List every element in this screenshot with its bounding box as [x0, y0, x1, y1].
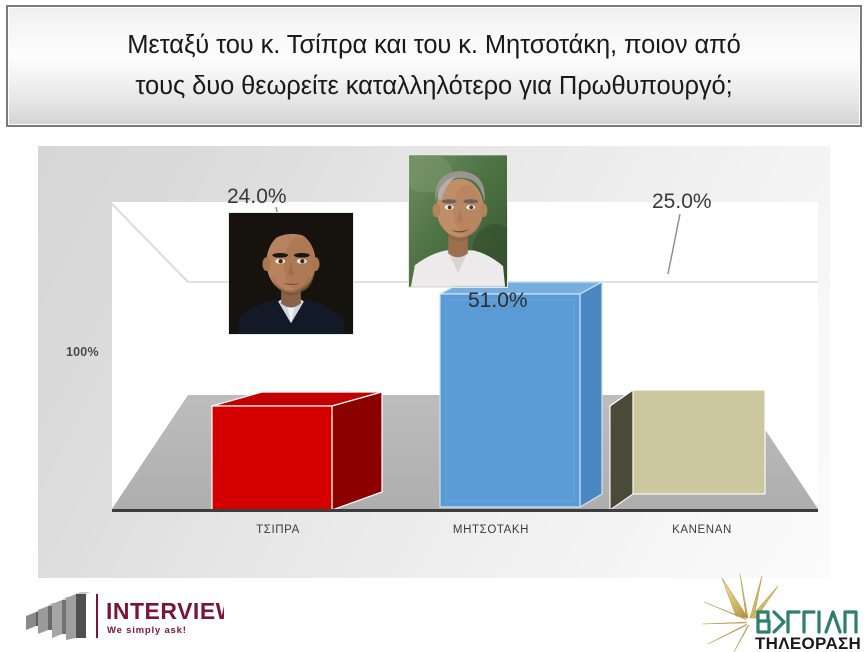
bar-kanenan-3d[interactable]: [610, 390, 765, 512]
bar-value-kanenan: 25.0%: [652, 190, 712, 214]
bar-group-mitsotaki[interactable]: [440, 282, 602, 512]
bar-tsipra-3d[interactable]: [212, 392, 382, 512]
vergina-tv-logo: ΤΗΛΕΟΡΑΣΗ: [700, 572, 866, 652]
tsipras-photo: [228, 212, 354, 335]
title-line-1: Μεταξύ του κ. Τσίπρα και του κ. Μητσοτάκ…: [34, 25, 834, 66]
interview-tagline: We simply ask!: [107, 625, 187, 636]
chart-container: 100% 10%: [38, 146, 830, 578]
x-axis-baseline: [112, 509, 818, 512]
interview-wordmark: INTERVIEW: [106, 598, 224, 624]
x-axis-label-mitsotaki: ΜΗΤΣΟΤΑΚΗ: [426, 524, 556, 536]
title-line-2: τους δυο θεωρείτε καταλληλότερο για Πρωθ…: [34, 66, 834, 107]
x-axis-label-tsipra: ΤΣΙΠΡΑ: [218, 524, 338, 536]
logo-divider: [96, 594, 98, 638]
interview-logo: INTERVIEW We simply ask!: [24, 592, 224, 640]
mitsotakis-photo: [408, 154, 508, 288]
interview-bars-icon: [26, 592, 90, 640]
y-axis-tick-100: 100%: [66, 345, 99, 359]
bar-group-kanenan[interactable]: [610, 390, 765, 512]
bar-mitsotaki-3d[interactable]: [440, 282, 602, 512]
x-axis-label-kanenan: ΚΑΝΕΝΑΝ: [642, 524, 762, 536]
page-title: Μεταξύ του κ. Τσίπρα και του κ. Μητσοτάκ…: [34, 25, 834, 108]
leader-line-kanenan: [662, 214, 692, 276]
vergina-wordmark: [758, 612, 856, 632]
vergina-subtitle: ΤΗΛΕΟΡΑΣΗ: [755, 634, 861, 652]
bar-value-mitsotaki: 51.0%: [468, 289, 528, 313]
bar-value-tsipra: 24.0%: [227, 185, 287, 209]
bar-group-tsipra[interactable]: [212, 392, 382, 512]
title-banner: Μεταξύ του κ. Τσίπρα και του κ. Μητσοτάκ…: [6, 5, 862, 127]
